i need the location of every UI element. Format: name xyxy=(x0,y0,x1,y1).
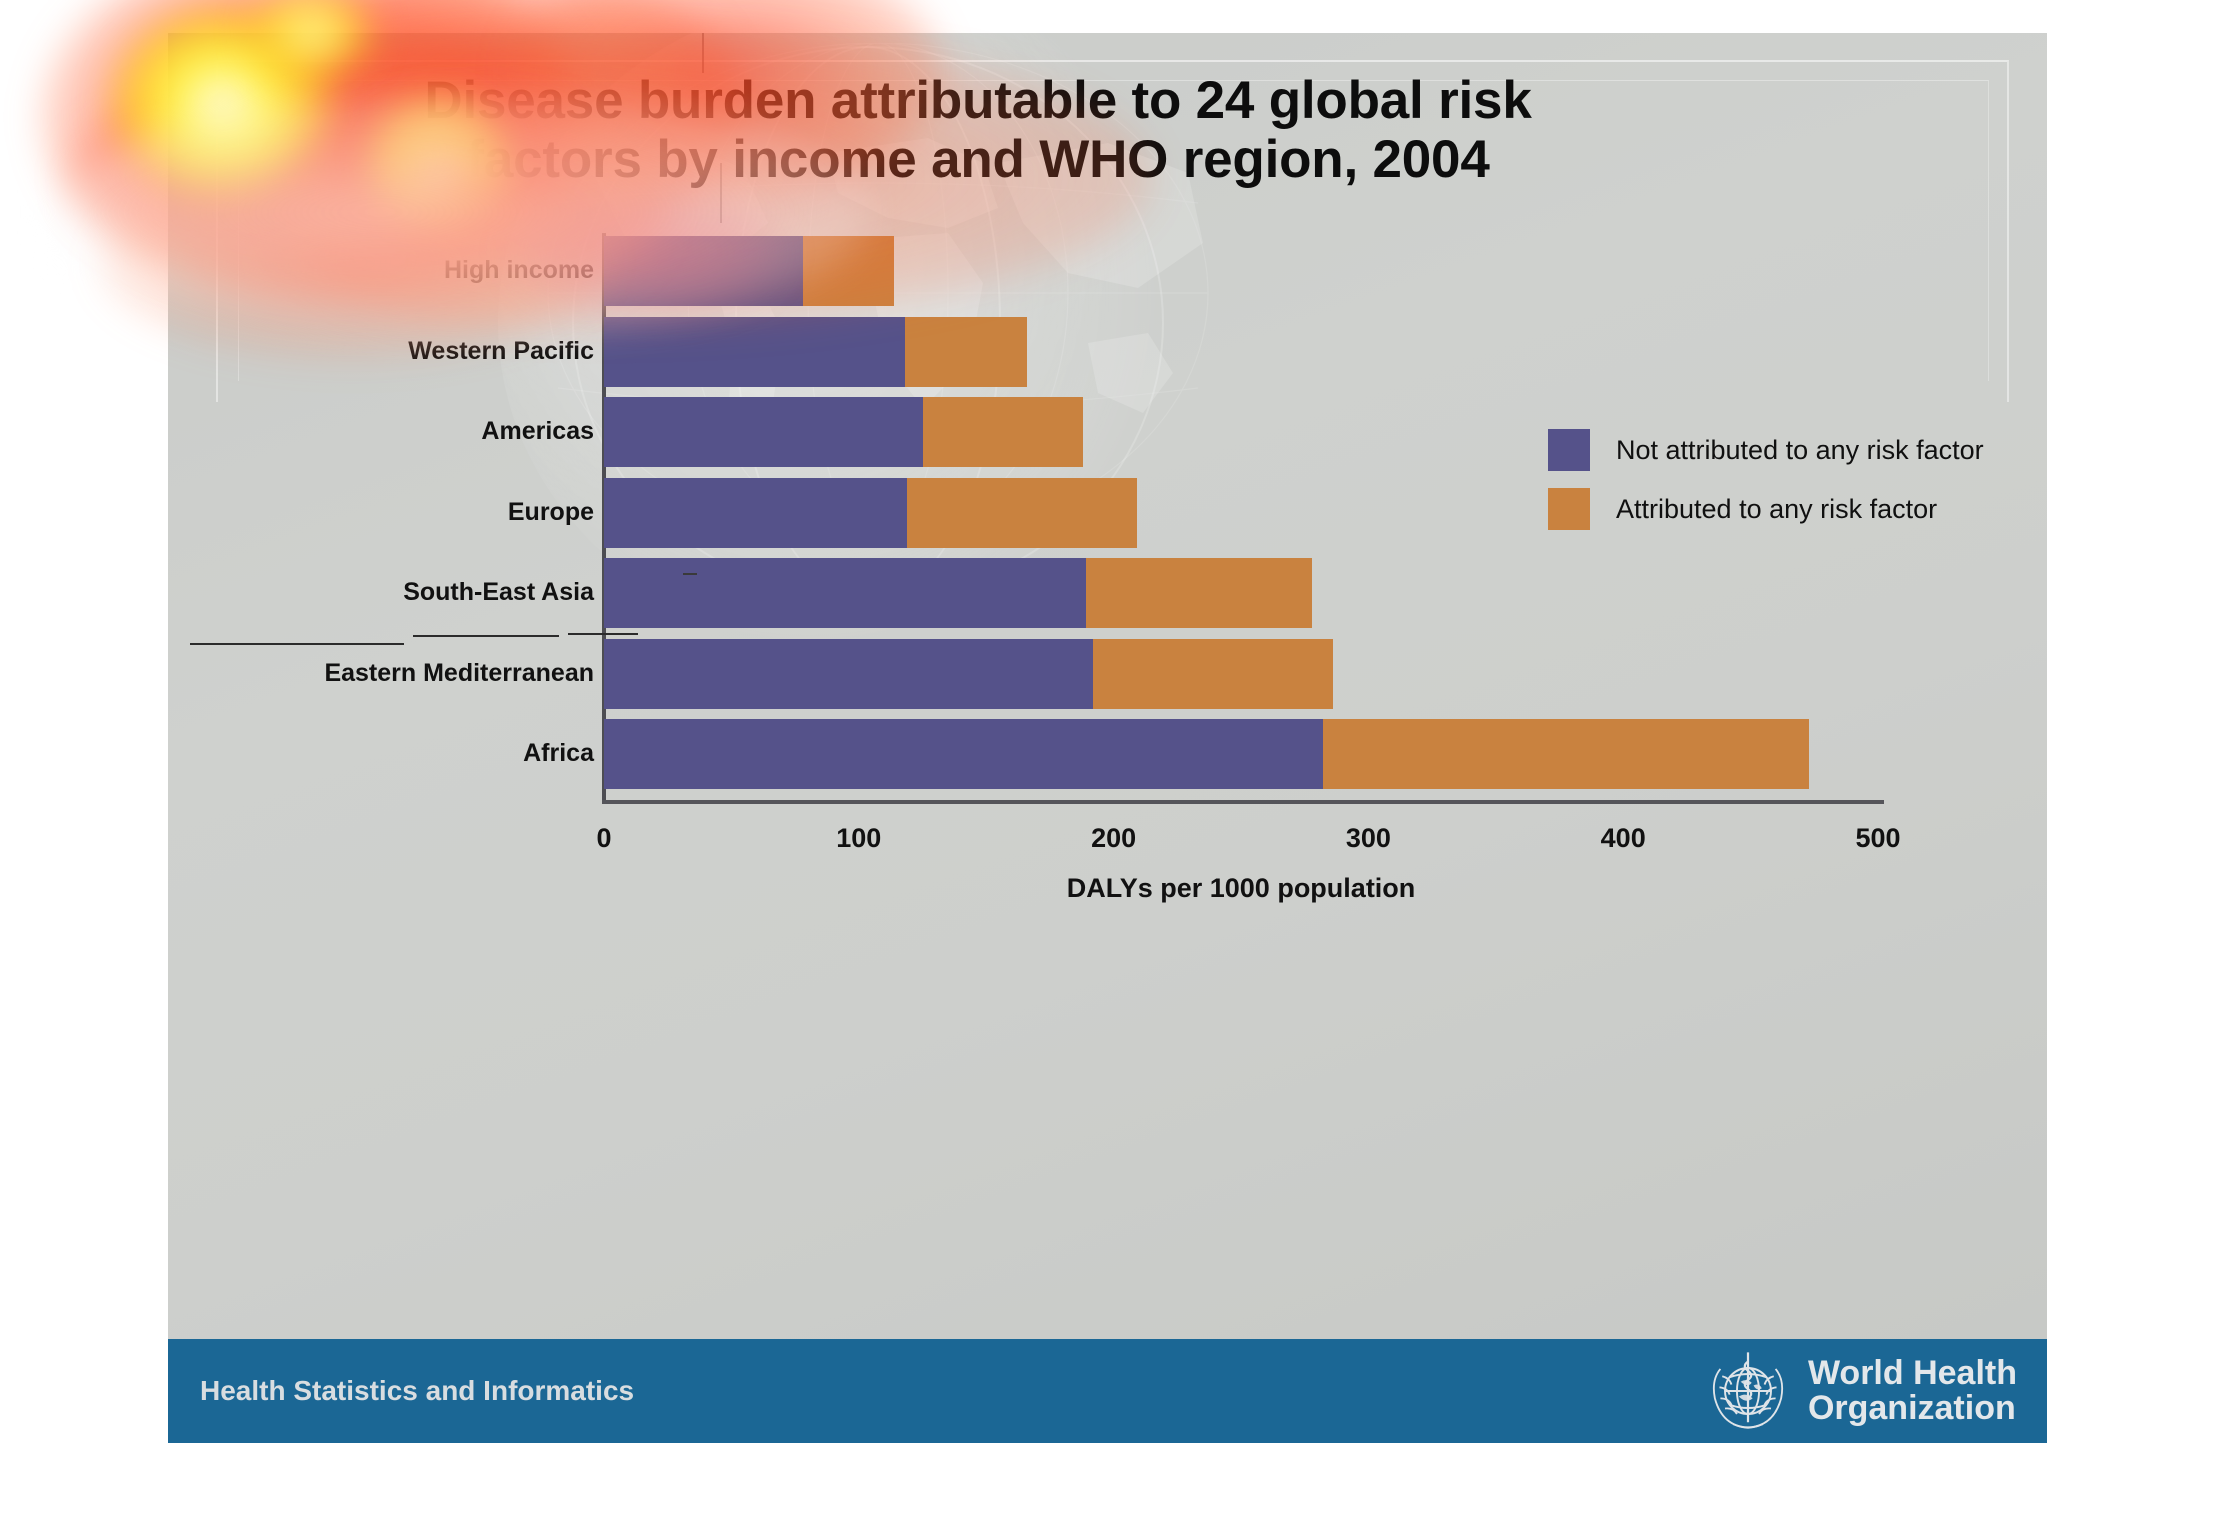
presentation-slide: Disease burden attributable to 24 global… xyxy=(168,33,2047,1443)
footer-department-label: Health Statistics and Informatics xyxy=(200,1375,634,1407)
bar-segment-not-attributed xyxy=(604,236,803,306)
x-tick-100: 100 xyxy=(836,823,881,854)
bar-segment-not-attributed xyxy=(604,558,1086,628)
legend-item-attributed: Attributed to any risk factor xyxy=(1548,488,1984,530)
stray-annotation-line-3 xyxy=(568,633,638,635)
x-tick-0: 0 xyxy=(596,823,611,854)
bar-row xyxy=(604,478,1137,548)
bar-segment-attributed xyxy=(1323,719,1810,789)
bar-segment-attributed xyxy=(923,397,1084,467)
legend-label-attributed: Attributed to any risk factor xyxy=(1616,494,1937,525)
chart-legend: Not attributed to any risk factor Attrib… xyxy=(1548,429,1984,547)
x-tick-200: 200 xyxy=(1091,823,1136,854)
y-axis-label-south-east-asia: South-East Asia xyxy=(403,580,594,605)
x-axis-line xyxy=(602,800,1884,804)
legend-label-not-attributed: Not attributed to any risk factor xyxy=(1616,435,1984,466)
legend-swatch-attributed xyxy=(1548,488,1590,530)
bar-row xyxy=(604,639,1333,709)
y-axis-label-high-income: High income xyxy=(444,258,594,283)
bar-row xyxy=(604,558,1312,628)
y-axis-label-americas: Americas xyxy=(481,419,594,444)
y-axis-label-europe: Europe xyxy=(508,500,594,525)
who-emblem-icon xyxy=(1702,1345,1794,1437)
x-tick-300: 300 xyxy=(1346,823,1391,854)
stray-annotation-dash xyxy=(683,573,697,575)
bar-segment-not-attributed xyxy=(604,478,907,548)
bar-segment-not-attributed xyxy=(604,317,905,387)
bar-segment-attributed xyxy=(1086,558,1313,628)
legend-item-not-attributed: Not attributed to any risk factor xyxy=(1548,429,1984,471)
who-logo: World Health Organization xyxy=(1702,1345,2017,1437)
legend-swatch-not-attributed xyxy=(1548,429,1590,471)
x-tick-400: 400 xyxy=(1601,823,1646,854)
bar-segment-not-attributed xyxy=(604,719,1323,789)
stray-annotation-line-2 xyxy=(413,635,559,637)
who-wordmark: World Health Organization xyxy=(1808,1356,2017,1425)
y-axis-label-africa: Africa xyxy=(523,741,594,766)
bar-row xyxy=(604,236,894,306)
bar-segment-attributed xyxy=(905,317,1027,387)
bar-segment-attributed xyxy=(803,236,895,306)
y-axis-label-eastern-mediterranean: Eastern Mediterranean xyxy=(324,661,594,686)
bar-segment-not-attributed xyxy=(604,639,1093,709)
x-axis-title: DALYs per 1000 population xyxy=(604,873,1878,904)
bar-segment-attributed xyxy=(1093,639,1333,709)
bar-segment-not-attributed xyxy=(604,397,923,467)
y-axis-label-western-pacific: Western Pacific xyxy=(408,339,594,364)
stray-annotation-line-1 xyxy=(190,643,404,645)
bar-row xyxy=(604,317,1027,387)
slide-footer: Health Statistics and Informatics xyxy=(168,1339,2047,1443)
x-tick-500: 500 xyxy=(1855,823,1900,854)
bar-row xyxy=(604,719,1809,789)
bar-row xyxy=(604,397,1083,467)
bar-segment-attributed xyxy=(907,478,1136,548)
stacked-bar-chart: High incomeWestern PacificAmericasEurope… xyxy=(168,33,2047,1323)
